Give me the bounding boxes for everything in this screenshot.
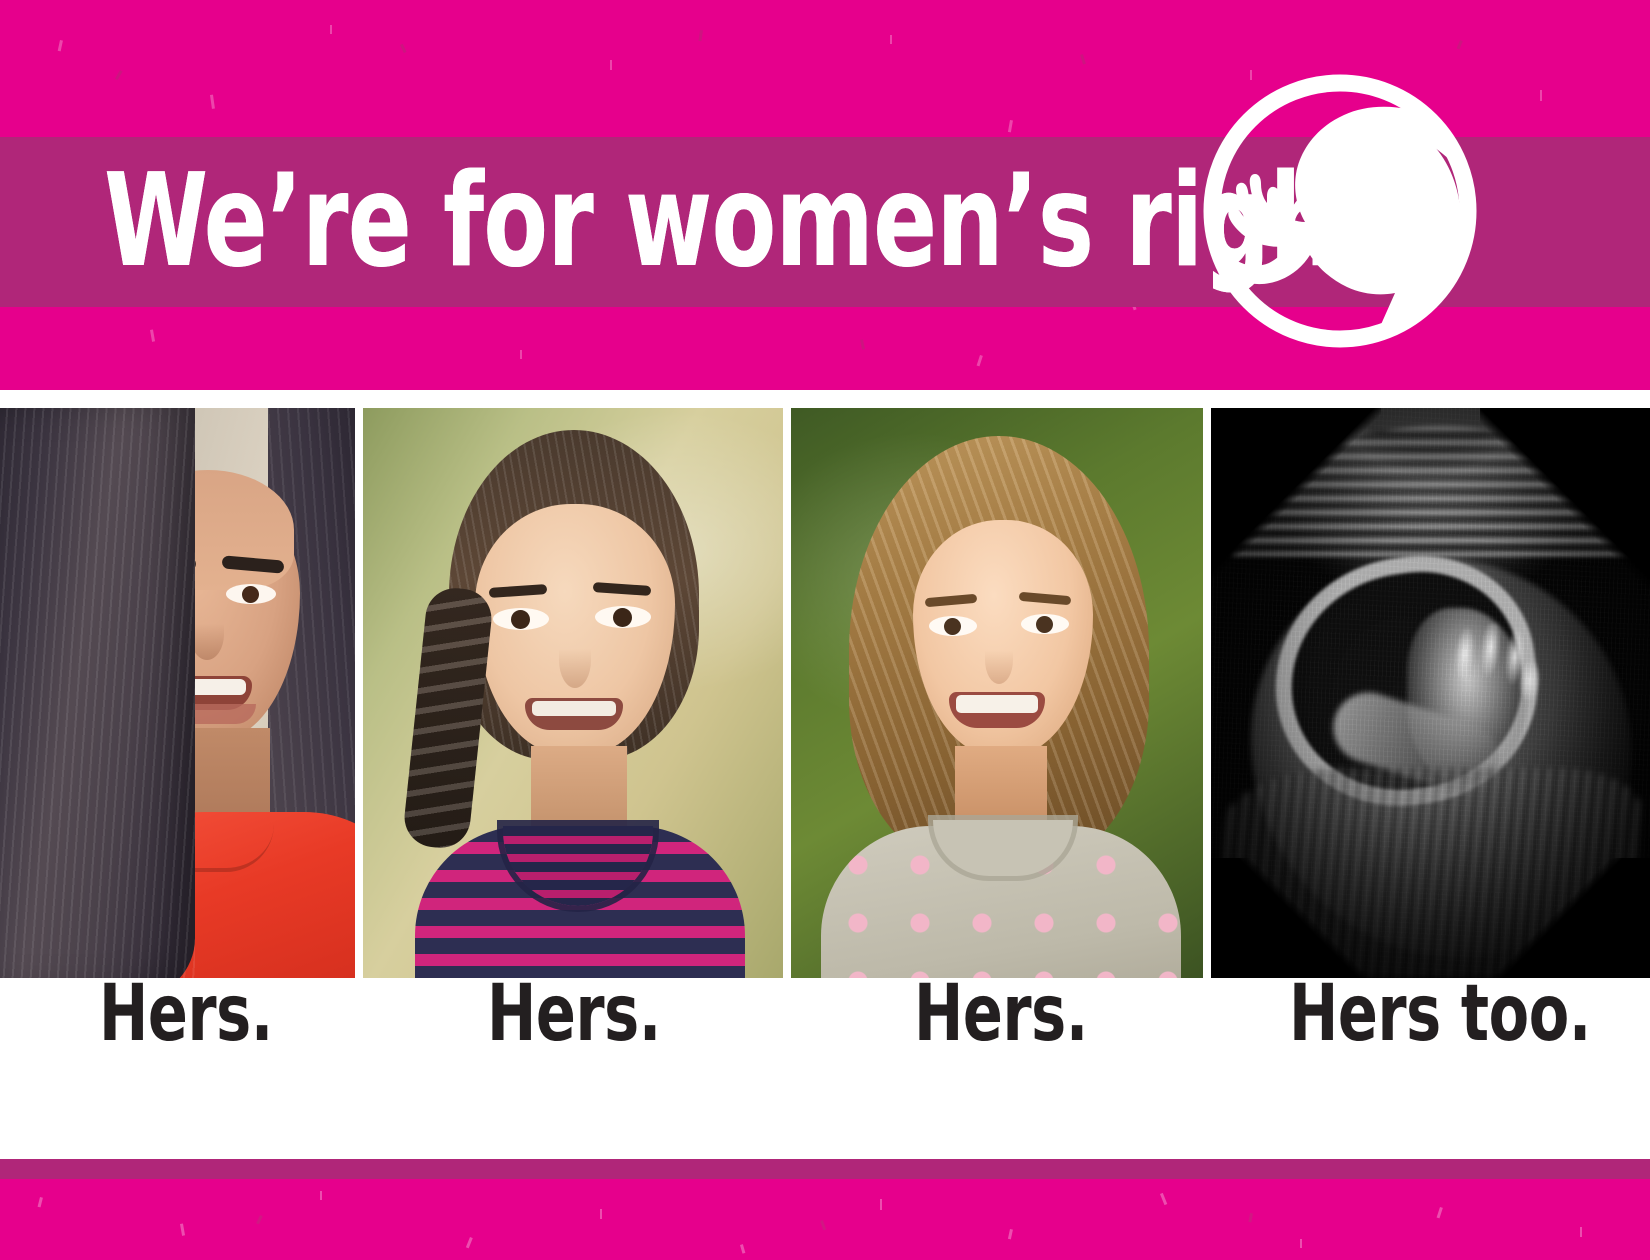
photo-panel-young-girl — [791, 408, 1203, 978]
photo-panel-woman — [0, 408, 355, 978]
fetus-in-circle-icon — [1199, 70, 1481, 352]
caption-panel-3: Hers. — [914, 975, 1088, 1053]
caption-panel-4: Hers too. — [1289, 975, 1591, 1053]
bottom-dark-band — [0, 1159, 1650, 1179]
bottom-pink-band — [0, 1179, 1650, 1260]
photo-panel-ultrasound — [1211, 408, 1650, 978]
caption-panel-2: Hers. — [487, 975, 661, 1053]
caption-panel-1: Hers. — [99, 975, 273, 1053]
photo-panel-girl-braid — [363, 408, 783, 978]
photo-strip — [0, 408, 1650, 978]
poster-canvas: We’re for women’s rights — [0, 0, 1650, 1260]
footer-speckle-texture — [0, 1179, 1650, 1260]
